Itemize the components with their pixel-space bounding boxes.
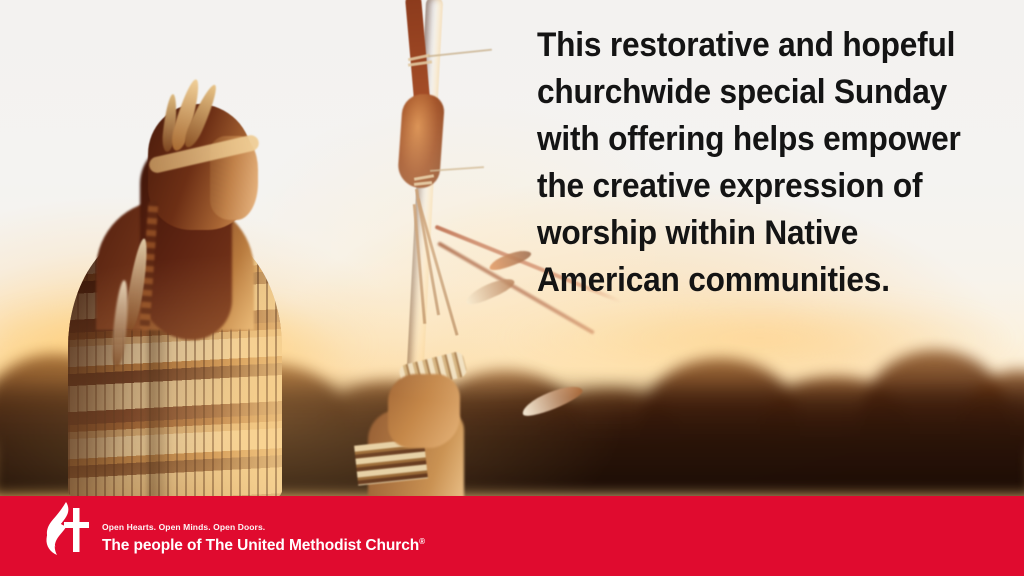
- woman-silhouette: [52, 84, 322, 496]
- footer-bar: Open Hearts. Open Minds. Open Doors. The…: [0, 496, 1024, 576]
- headline-text: This restorative and hopeful churchwide …: [537, 22, 974, 304]
- slide-canvas: This restorative and hopeful churchwide …: [0, 0, 1024, 576]
- staff-long-feather: [519, 381, 585, 421]
- umc-logo-text: Open Hearts. Open Minds. Open Doors. The…: [102, 504, 425, 554]
- umc-brandline: The people of The United Methodist Churc…: [102, 533, 425, 554]
- hand-gripping-staff: [388, 374, 460, 448]
- staff-feather: [463, 274, 516, 308]
- staff-beadwork: [397, 93, 445, 190]
- registered-trademark-mark: ®: [419, 537, 425, 546]
- umc-logo-lockup[interactable]: Open Hearts. Open Minds. Open Doors. The…: [40, 500, 425, 558]
- umc-brand-label: The people of The United Methodist Churc…: [102, 537, 419, 554]
- umc-tagline: Open Hearts. Open Minds. Open Doors.: [102, 522, 425, 532]
- cross-and-flame-icon: [40, 500, 92, 558]
